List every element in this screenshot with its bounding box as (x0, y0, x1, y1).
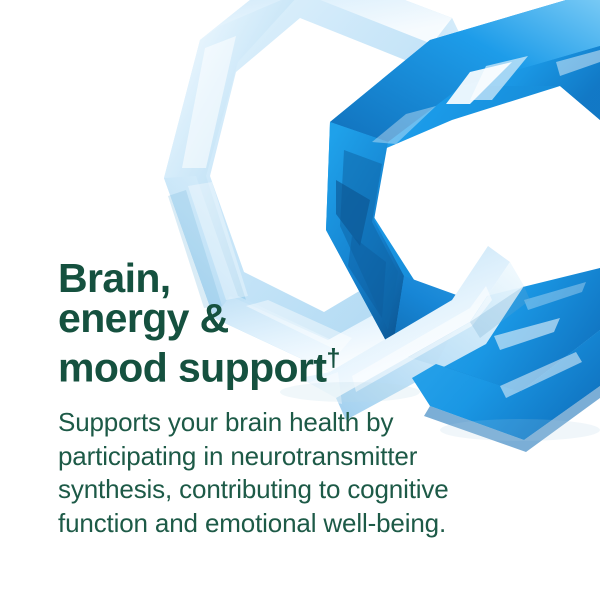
copy-block: Brain, energy & mood support† Supports y… (58, 258, 528, 540)
benefit-description: Supports your brain health by participat… (58, 406, 528, 540)
headline-text: Brain, energy & mood support (58, 255, 326, 390)
page-title: Brain, energy & mood support† (58, 258, 528, 387)
footnote-dagger-marker: † (326, 344, 340, 372)
product-benefit-card: Brain, energy & mood support† Supports y… (0, 0, 600, 600)
